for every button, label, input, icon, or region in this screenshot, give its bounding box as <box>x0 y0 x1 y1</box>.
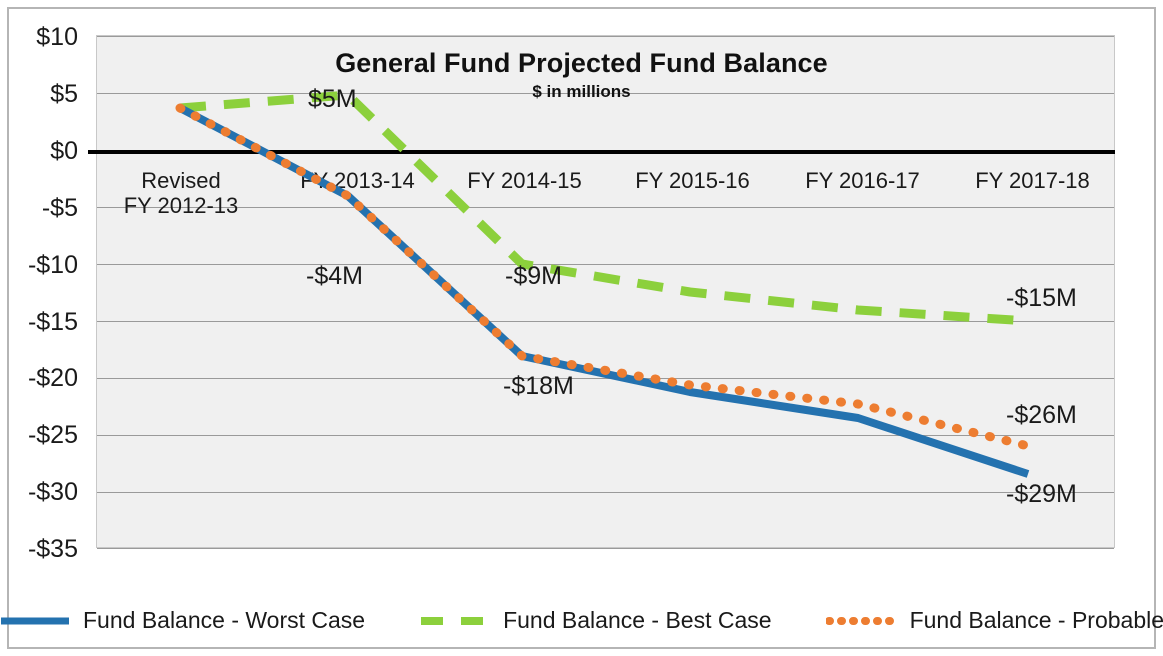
data-label-minus-29m: -$29M <box>1006 482 1077 507</box>
data-label-minus-26m: -$26M <box>1006 403 1077 428</box>
legend-swatch-dashed-icon <box>419 614 491 628</box>
legend-item-probable[interactable]: Fund Balance - Probable <box>826 607 1163 634</box>
data-label-minus-9m: -$9M <box>505 264 562 289</box>
legend-label-worst-case: Fund Balance - Worst Case <box>83 607 365 634</box>
data-label-5m: $5M <box>308 87 357 112</box>
series-line-worst-case <box>180 108 1028 474</box>
series-layer <box>0 0 1163 656</box>
data-label-minus-15m: -$15M <box>1006 286 1077 311</box>
legend-swatch-solid-icon <box>0 614 71 628</box>
chart-container: $10 $5 $0 -$5 -$10 -$15 -$20 -$25 -$30 -… <box>0 0 1163 656</box>
legend-label-probable: Fund Balance - Probable <box>910 607 1163 634</box>
data-label-minus-18m: -$18M <box>503 374 574 399</box>
legend-swatch-dotted-icon <box>826 614 898 628</box>
legend-label-best-case: Fund Balance - Best Case <box>503 607 771 634</box>
legend-item-best-case[interactable]: Fund Balance - Best Case <box>419 607 771 634</box>
chart-legend: Fund Balance - Worst Case Fund Balance -… <box>0 607 1163 634</box>
legend-item-worst-case[interactable]: Fund Balance - Worst Case <box>0 607 365 634</box>
data-label-minus-4m: -$4M <box>306 264 363 289</box>
